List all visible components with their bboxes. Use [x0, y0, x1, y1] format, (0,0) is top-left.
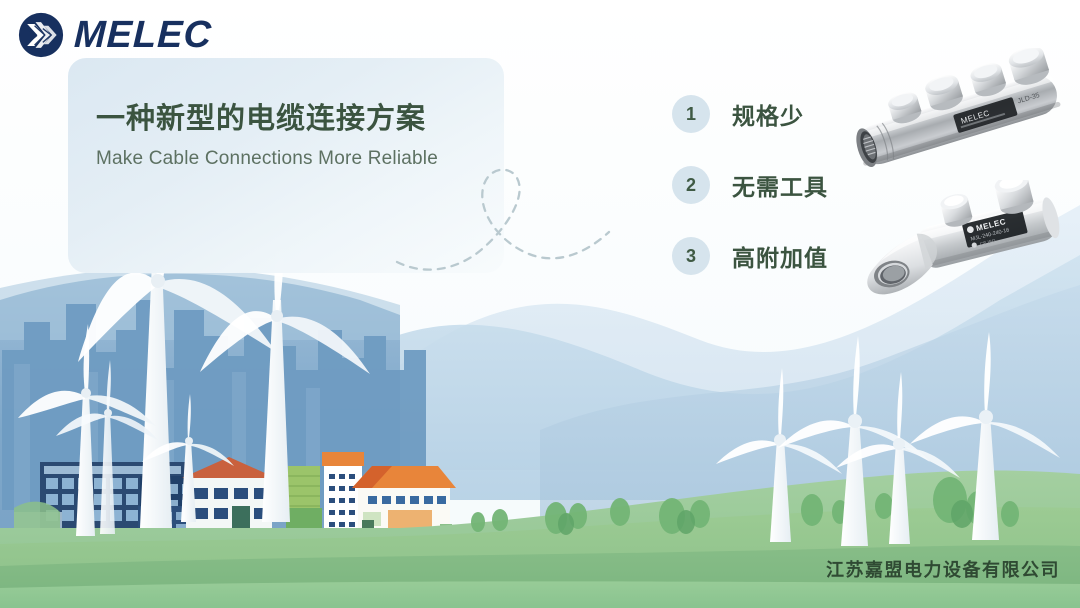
inline-cable-connector-photo: MELEC JLD-35: [838, 48, 1076, 178]
slide-canvas: MELEC 一种新型的电缆连接方案 Make Cable Connections…: [0, 0, 1080, 608]
list-item-label: 高附加值: [732, 239, 828, 273]
list-item-label: 规格少: [732, 97, 804, 131]
list-item-number: 1: [672, 95, 710, 133]
page-title: 一种新型的电缆连接方案: [96, 100, 496, 136]
feature-list: 1 规格少 2 无需工具 3 高附加值: [672, 92, 828, 305]
page-subtitle: Make Cable Connections More Reliable: [96, 148, 496, 170]
list-item-number: 2: [672, 166, 710, 204]
brand-logo[interactable]: MELEC: [18, 12, 212, 58]
brand-wordmark: MELEC: [73, 16, 212, 54]
office-building-icon: [322, 452, 364, 540]
list-item[interactable]: 2 无需工具: [672, 163, 828, 207]
melec-chevron-circle-icon: [18, 12, 64, 58]
list-item-number: 3: [672, 237, 710, 275]
list-item[interactable]: 1 规格少: [672, 92, 828, 136]
list-item-label: 无需工具: [732, 168, 828, 202]
cable-lug-photo: MELEC MJL-240-240-16 CE ISO: [840, 180, 1076, 298]
company-name: 江苏嘉盟电力设备有限公司: [826, 556, 1060, 582]
list-item[interactable]: 3 高附加值: [672, 234, 828, 278]
hero-text-block: 一种新型的电缆连接方案 Make Cable Connections More …: [96, 100, 496, 170]
